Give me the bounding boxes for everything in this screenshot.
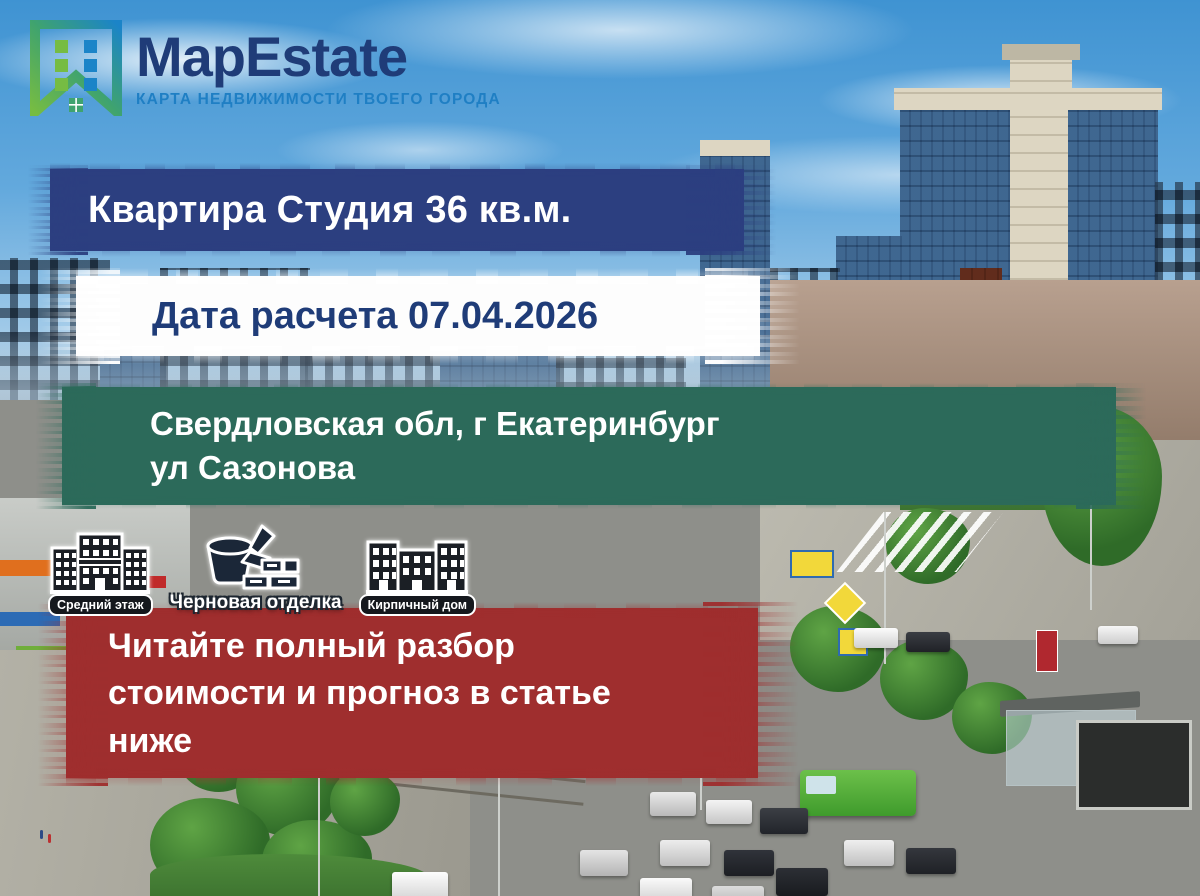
calculation-date: Дата расчета 07.04.2026 (152, 295, 598, 338)
buildings-midrise-icon (48, 526, 152, 600)
cta-text: Читайте полный разбор стоимости и прогно… (108, 623, 611, 766)
car (640, 878, 692, 896)
address-banner-edge-right (1076, 383, 1146, 509)
cta-banner-edge-bottom (66, 768, 758, 786)
address-line-1: Свердловская обл, г Екатеринбург (150, 402, 720, 446)
car (580, 850, 628, 876)
logo-wordmark: MapEstate КАРТА НЕДВИЖИМОСТИ ТВОЕГО ГОРО… (136, 29, 501, 108)
address-line-2: ул Сазонова (150, 446, 720, 490)
car (712, 886, 764, 896)
car (844, 840, 894, 866)
property-title: Квартира Студия 36 кв.м. (88, 189, 571, 232)
car (906, 848, 956, 874)
car (906, 632, 950, 652)
feature-label: Черновая отделка (163, 590, 349, 616)
car (776, 868, 828, 896)
brick-apartment-building-icon (364, 526, 470, 600)
cta-line-2: стоимости и прогноз в статье (108, 670, 611, 718)
bus-window (806, 776, 836, 794)
feature-badges: Средний этаж (48, 520, 476, 616)
date-banner: Дата расчета 07.04.2026 (40, 268, 800, 364)
cta-banner: Читайте полный разбор стоимости и прогно… (38, 602, 798, 786)
address-banner: Свердловская обл, г Екатеринбург ул Сазо… (36, 383, 1146, 509)
brand-logo[interactable]: MapEstate КАРТА НЕДВИЖИМОСТИ ТВОЕГО ГОРО… (30, 20, 501, 116)
pedestrian (48, 834, 51, 843)
title-banner-edge-bottom (50, 241, 744, 257)
car (724, 850, 774, 876)
pedestrian (40, 830, 43, 839)
feature-wall-material: Кирпичный дом (359, 526, 476, 616)
feature-floor: Средний этаж (48, 526, 153, 616)
tower-small-left-roof (700, 140, 770, 156)
paint-bucket-trowel-brick-icon (200, 520, 312, 594)
bookmark-building-icon (30, 20, 122, 116)
address-banner-edge-bottom (62, 495, 1116, 509)
car (706, 800, 752, 824)
pedestrian-sign (790, 550, 834, 578)
car (660, 840, 710, 866)
cta-line-1: Читайте полный разбор (108, 623, 611, 671)
title-banner: Квартира Студия 36 кв.м. (28, 163, 776, 257)
date-banner-edge-top (76, 268, 760, 284)
car (650, 792, 696, 816)
promo-poster: MapEstate КАРТА НЕДВИЖИМОСТИ ТВОЕГО ГОРО… (0, 0, 1200, 896)
van (392, 872, 448, 896)
feature-finish: Черновая отделка (163, 520, 349, 616)
cta-banner-edge-right (703, 602, 798, 786)
feature-label: Кирпичный дом (359, 594, 476, 616)
cta-banner-edge-left (38, 602, 108, 786)
digital-billboard (1076, 720, 1192, 810)
car (760, 808, 808, 834)
tower-main-roof (894, 88, 1162, 110)
ad-pillar (1036, 630, 1058, 672)
brand-tagline: КАРТА НЕДВИЖИМОСТИ ТВОЕГО ГОРОДА (136, 92, 501, 108)
address-banner-edge-left (36, 383, 96, 509)
title-banner-edge-top (50, 163, 744, 177)
cta-line-3: ниже (108, 718, 611, 766)
tower-rooftop-plant (1002, 44, 1080, 60)
car (854, 628, 898, 648)
address-text: Свердловская обл, г Екатеринбург ул Сазо… (150, 402, 720, 489)
date-banner-edge-bottom (76, 346, 760, 364)
feature-label: Средний этаж (48, 594, 153, 616)
brand-name: MapEstate (136, 29, 501, 85)
car (1098, 626, 1138, 644)
address-banner-edge-top (62, 383, 1116, 395)
